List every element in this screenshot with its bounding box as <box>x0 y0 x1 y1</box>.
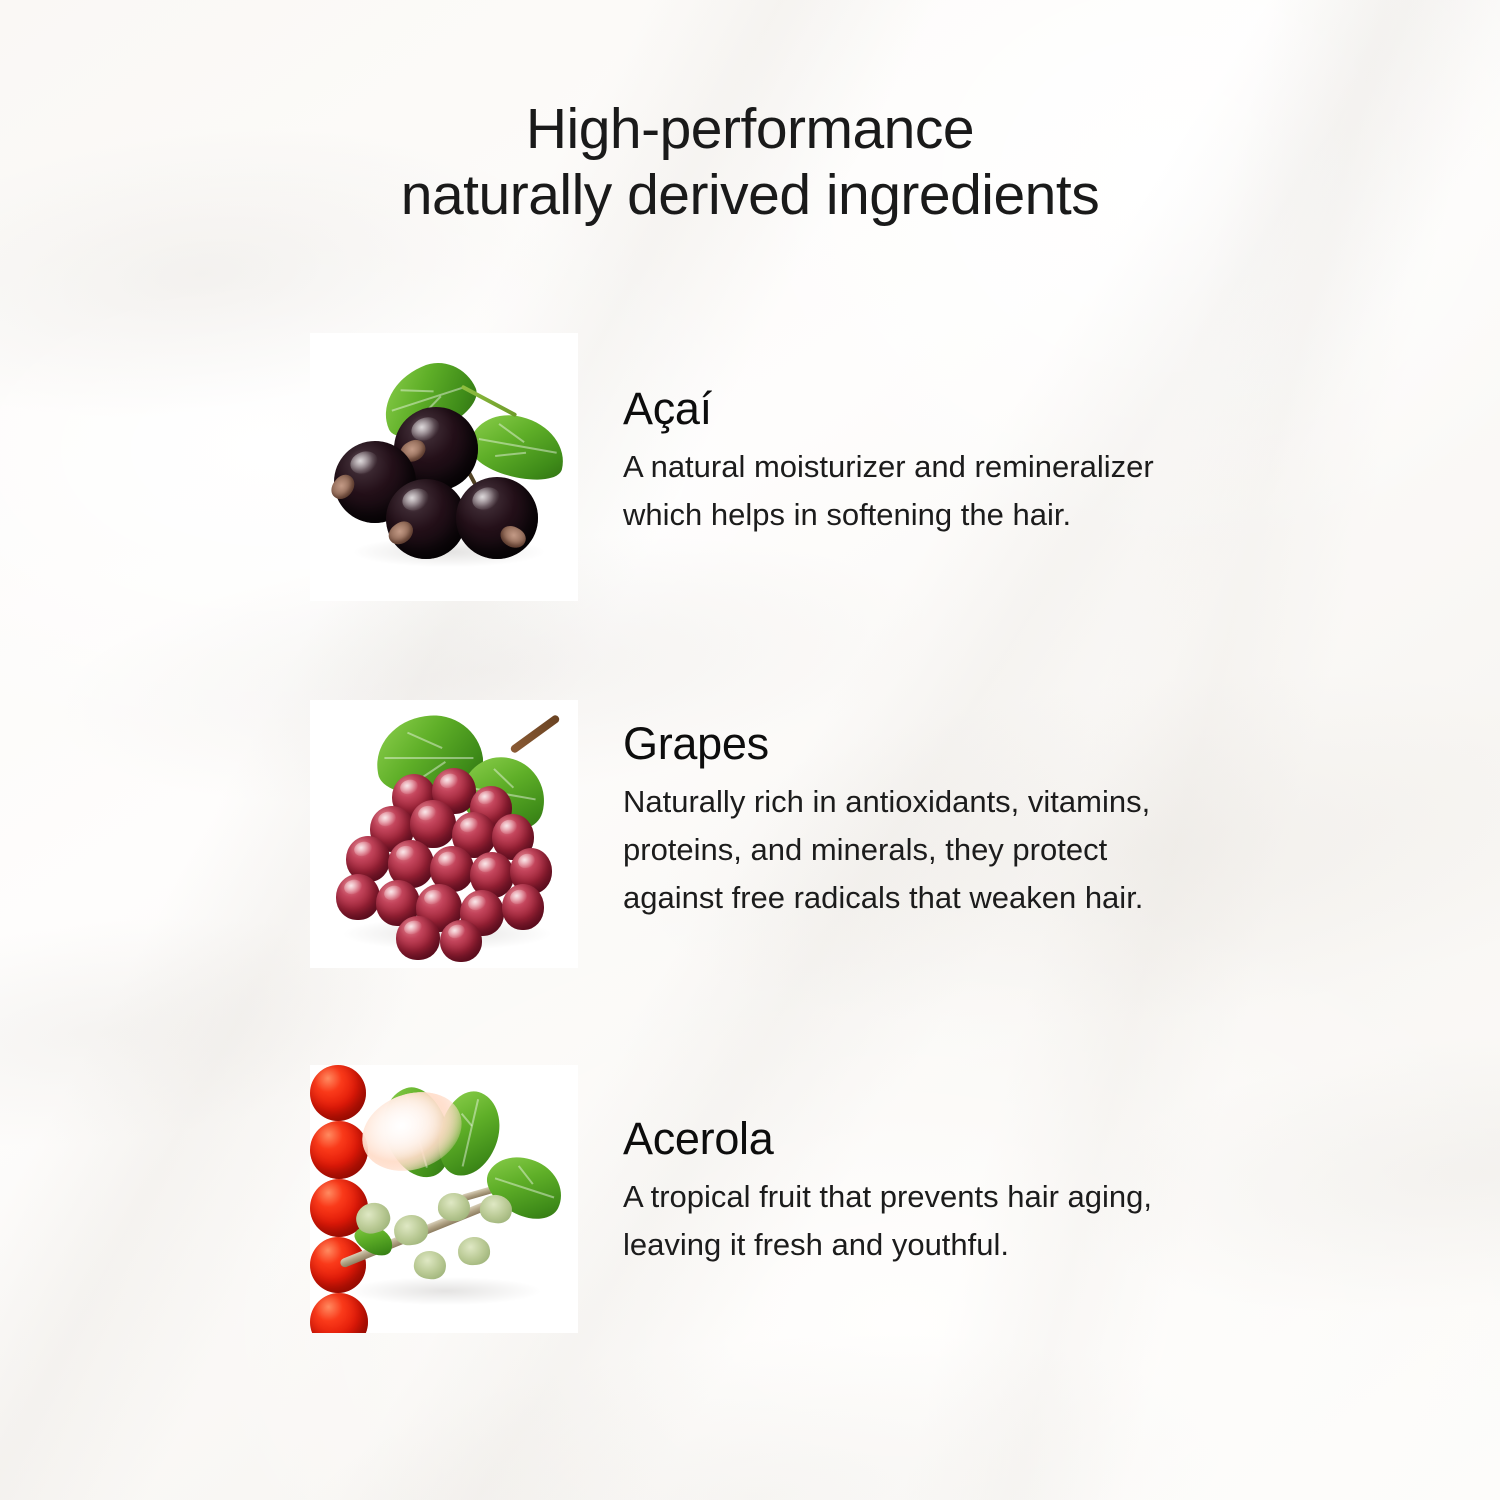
acai-berries-illustration <box>310 333 578 601</box>
grape <box>396 916 440 960</box>
grape <box>440 920 482 962</box>
ingredient-description-grapes: Naturally rich in antioxidants, vitamins… <box>623 778 1150 922</box>
ingredient-name-grapes: Grapes <box>623 718 1150 770</box>
ingredient-description-acai: A natural moisturizer and remineralizer … <box>623 443 1154 539</box>
acai-leaf-right <box>464 406 572 487</box>
acerola-drop-shadow <box>350 1277 540 1305</box>
acerola-illustration <box>310 1065 578 1333</box>
ingredient-row-grapes: Grapes Naturally rich in antioxidants, v… <box>310 700 1150 968</box>
acerola-copy: Acerola A tropical fruit that prevents h… <box>623 1065 1152 1269</box>
ingredient-row-acerola: Acerola A tropical fruit that prevents h… <box>310 1065 1152 1333</box>
acai-berry-right <box>456 477 538 559</box>
ingredient-row-acai: Açaí A natural moisturizer and remineral… <box>310 333 1154 601</box>
ingredient-name-acerola: Acerola <box>623 1113 1152 1165</box>
grapes-copy: Grapes Naturally rich in antioxidants, v… <box>623 700 1150 922</box>
acai-copy: Açaí A natural moisturizer and remineral… <box>623 333 1154 539</box>
grapes-image-tile <box>310 700 578 968</box>
acerola-cherry <box>310 1293 368 1333</box>
grape-stem <box>509 714 561 755</box>
acerola-image-tile <box>310 1065 578 1333</box>
acai-berry-center <box>386 479 466 559</box>
acerola-cherry <box>310 1065 366 1121</box>
grape <box>502 884 544 930</box>
infographic-page: High-performance naturally derived ingre… <box>0 0 1500 1500</box>
ingredient-name-acai: Açaí <box>623 383 1154 435</box>
acerola-hull <box>457 1236 491 1266</box>
acerola-cherry <box>310 1121 368 1179</box>
grapes-illustration <box>310 700 578 968</box>
ingredient-description-acerola: A tropical fruit that prevents hair agin… <box>623 1173 1152 1269</box>
grape <box>336 874 380 920</box>
acai-image-tile <box>310 333 578 601</box>
page-title: High-performance naturally derived ingre… <box>0 96 1500 228</box>
